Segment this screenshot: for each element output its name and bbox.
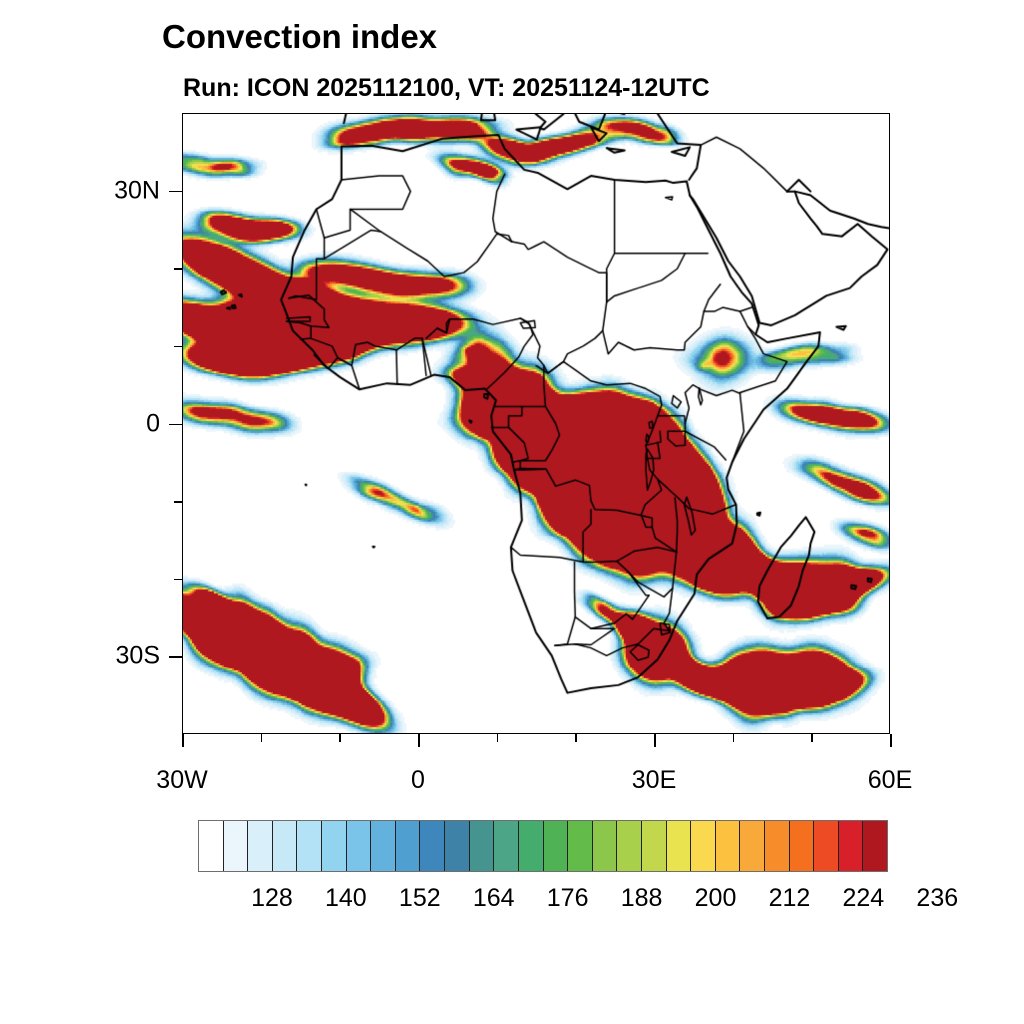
colorbar-cell — [568, 821, 593, 871]
figure-subtitle: Run: ICON 2025112100, VT: 20251124-12UTC — [183, 74, 710, 103]
x-tick-minor — [497, 734, 499, 742]
y-tick-minor — [174, 346, 182, 348]
colorbar-cell — [593, 821, 618, 871]
colorbar-cell — [617, 821, 642, 871]
colorbar-cell — [544, 821, 569, 871]
y-tick-minor — [174, 579, 182, 581]
colorbar-cell — [445, 821, 470, 871]
y-tick-minor — [174, 268, 182, 270]
colorbar-tick-label: 224 — [842, 884, 884, 913]
colorbar-cell — [667, 821, 692, 871]
y-tick-major — [169, 191, 182, 193]
colorbar-cell — [863, 821, 887, 871]
colorbar-cell — [642, 821, 667, 871]
colorbar-tick-label: 164 — [473, 884, 515, 913]
colorbar-cell — [470, 821, 495, 871]
y-axis-label: 30N — [114, 176, 160, 205]
y-tick-minor — [174, 501, 182, 503]
colorbar-cell — [248, 821, 273, 871]
map-plot-area — [182, 113, 890, 734]
colorbar-cell — [199, 821, 224, 871]
x-tick-major — [890, 734, 892, 747]
x-tick-minor — [811, 734, 813, 742]
colorbar-cells — [198, 820, 888, 872]
colorbar-cell — [494, 821, 519, 871]
y-tick-major — [169, 656, 182, 658]
colorbar-tick-label: 200 — [695, 884, 737, 913]
page-title: Convection index — [162, 18, 437, 56]
colorbar-tick-label: 152 — [399, 884, 441, 913]
colorbar-tick-label: 176 — [547, 884, 589, 913]
x-axis-label: 30W — [156, 766, 207, 795]
colorbar-cell — [371, 821, 396, 871]
colorbar-cell — [273, 821, 298, 871]
x-tick-minor — [575, 734, 577, 742]
colorbar-cell — [297, 821, 322, 871]
colorbar-cell — [396, 821, 421, 871]
colorbar-tick-label: 140 — [325, 884, 367, 913]
x-tick-minor — [733, 734, 735, 742]
colorbar-cell — [420, 821, 445, 871]
x-tick-minor — [339, 734, 341, 742]
colorbar-cell — [839, 821, 864, 871]
colorbar — [198, 820, 888, 872]
colorbar-tick-label: 212 — [769, 884, 811, 913]
x-axis-label: 60E — [868, 766, 912, 795]
colorbar-cell — [519, 821, 544, 871]
colorbar-cell — [224, 821, 249, 871]
figure-root: Convection index Run: ICON 2025112100, V… — [0, 0, 1024, 1024]
x-axis-label: 30E — [632, 766, 676, 795]
y-tick-major — [169, 424, 182, 426]
colorbar-tick-label: 128 — [251, 884, 293, 913]
x-axis-label: 0 — [411, 766, 425, 795]
x-tick-minor — [261, 734, 263, 742]
colorbar-cell — [347, 821, 372, 871]
convection-index-map — [183, 114, 889, 733]
colorbar-tick-label: 188 — [621, 884, 663, 913]
colorbar-cell — [790, 821, 815, 871]
colorbar-cell — [814, 821, 839, 871]
y-axis-label: 30S — [116, 642, 160, 671]
colorbar-cell — [765, 821, 790, 871]
colorbar-cell — [322, 821, 347, 871]
y-axis-label: 0 — [146, 409, 160, 438]
x-tick-major — [654, 734, 656, 747]
colorbar-cell — [716, 821, 741, 871]
x-tick-major — [182, 734, 184, 747]
colorbar-cell — [740, 821, 765, 871]
colorbar-cell — [691, 821, 716, 871]
colorbar-tick-label: 236 — [916, 884, 958, 913]
x-tick-major — [418, 734, 420, 747]
